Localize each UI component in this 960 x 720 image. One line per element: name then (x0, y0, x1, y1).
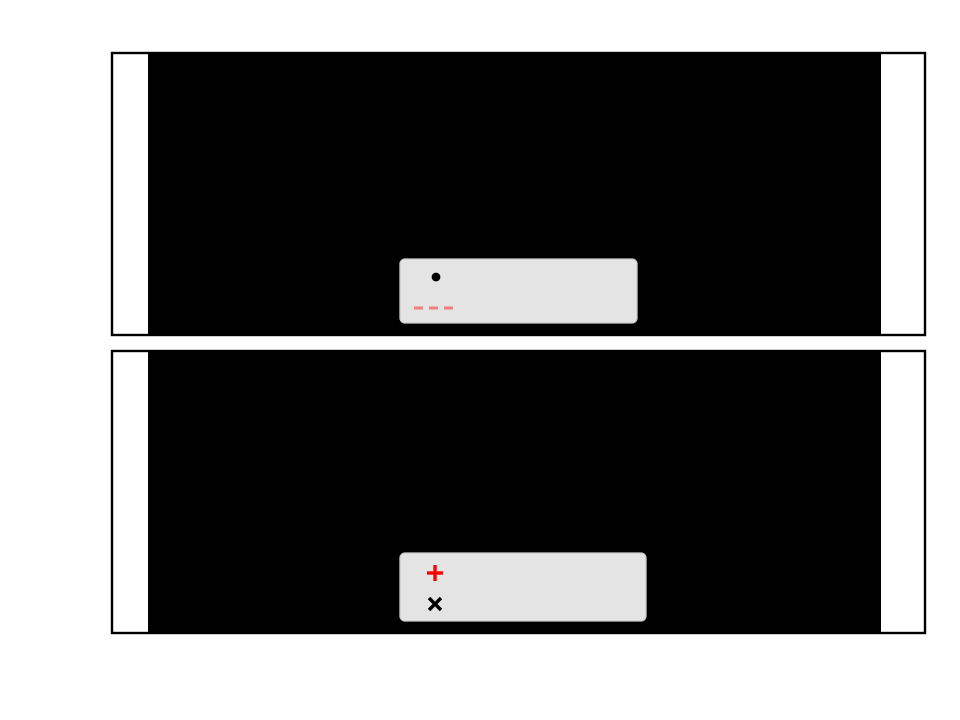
top-legend-box (400, 259, 637, 323)
bottom-legend-box (400, 553, 646, 621)
matplotlib-figure (0, 0, 960, 720)
figure-canvas (0, 0, 960, 720)
top-legend (400, 259, 637, 323)
measurements-marker-icon (432, 273, 441, 282)
bottom-legend (400, 553, 646, 621)
